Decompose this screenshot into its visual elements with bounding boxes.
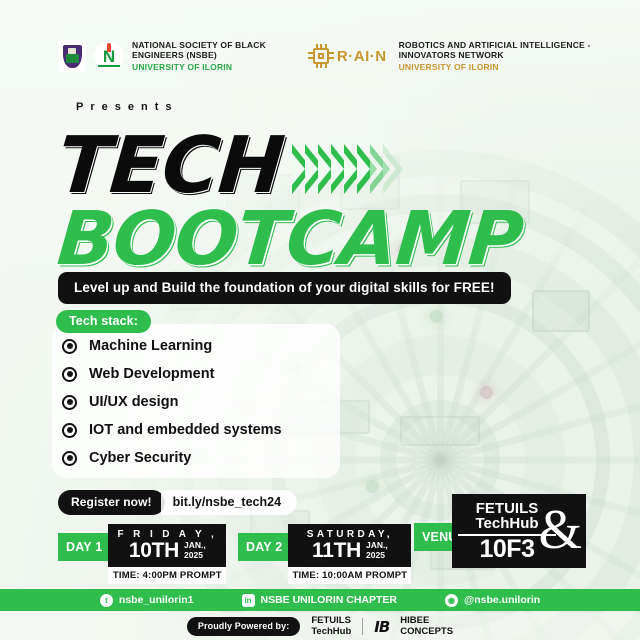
venues-box: FETUILS TechHub 10F3 & (452, 494, 586, 568)
rain-line3: UNIVERSITY OF ILORIN (399, 62, 591, 72)
social-handle: NSBE UNILORIN CHAPTER (261, 594, 398, 606)
tech-stack-item-label: UI/UX design (89, 394, 178, 410)
social-link-instagram[interactable]: ◉@nsbe.unilorin (445, 594, 540, 607)
chevron-arrows-icon (299, 144, 403, 194)
day-2-year: 2025 (366, 551, 388, 561)
organization-header: N NATIONAL SOCIETY OF BLACK ENGINEERS (N… (58, 40, 591, 72)
rain-text-block: ROBOTICS AND ARTIFICIAL INTELLIGENCE - I… (399, 40, 591, 72)
social-handle: nsbe_unilorin1 (119, 594, 194, 606)
rain-wordmark: R·AI·N (337, 48, 387, 65)
register-now-button[interactable]: Register now! (58, 490, 165, 515)
twitter-icon: t (100, 594, 113, 607)
nsbe-text-block: NATIONAL SOCIETY OF BLACK ENGINEERS (NSB… (132, 40, 266, 72)
decorative-spoke (439, 379, 640, 463)
tech-stack-item: Cyber Security (62, 450, 282, 466)
social-handle: @nsbe.unilorin (464, 594, 540, 606)
day-card-2: DAY 2 SATURDAY, 11TH JAN., 2025 TIME: 10… (238, 524, 411, 584)
sponsor1-line2: TechHub (311, 627, 351, 638)
title-bootcamp: BOOTCAMP (55, 202, 526, 276)
tech-stack-item-label: IOT and embedded systems (89, 422, 282, 438)
poster-canvas: N NATIONAL SOCIETY OF BLACK ENGINEERS (N… (0, 0, 640, 640)
day-2-time: TIME: 10:00AM PROMPT (288, 567, 411, 584)
linkedin-icon: in (242, 594, 255, 607)
bullet-radio-icon (62, 395, 77, 410)
hibee-logo-icon: IB (374, 618, 389, 636)
sponsor-hibee: HIBEE CONCEPTS (400, 616, 453, 638)
sponsor1-line1: FETUILS (311, 616, 351, 627)
powered-by-label: Proudly Powered by: (187, 617, 300, 636)
hero-title-row: TECH (58, 129, 403, 204)
bullet-radio-icon (62, 451, 77, 466)
nsbe-logo-group: N NATIONAL SOCIETY OF BLACK ENGINEERS (N… (58, 40, 266, 72)
sponsor-fetuils: FETUILS TechHub (311, 616, 351, 638)
unilorin-crest-icon (58, 40, 86, 72)
day-2-tag: DAY 2 (238, 533, 289, 561)
tech-stack-item: UI/UX design (62, 394, 282, 410)
nsbe-line1: NATIONAL SOCIETY OF BLACK (132, 40, 266, 50)
tech-stack-item-label: Cyber Security (89, 450, 191, 466)
tech-stack-badge: Tech stack: (56, 310, 151, 333)
tech-stack-item-label: Web Development (89, 366, 214, 382)
footer-divider (362, 618, 363, 635)
social-link-linkedin[interactable]: inNSBE UNILORIN CHAPTER (242, 594, 398, 607)
social-bar: tnsbe_unilorin1inNSBE UNILORIN CHAPTER◉@… (0, 589, 640, 611)
register-row[interactable]: Register now! bit.ly/nsbe_tech24 (58, 490, 297, 515)
tagline-banner: Level up and Build the foundation of you… (58, 272, 511, 304)
microchip-icon (308, 44, 334, 68)
sponsor2-line2: CONCEPTS (400, 627, 453, 638)
tech-stack-list: Machine LearningWeb DevelopmentUI/UX des… (62, 338, 282, 466)
day-1-tag: DAY 1 (58, 533, 109, 561)
bullet-radio-icon (62, 367, 77, 382)
sponsor2-line1: HIBEE (400, 616, 453, 627)
tech-stack-item-label: Machine Learning (89, 338, 212, 354)
ampersand-glyph: & (538, 502, 582, 558)
rain-wordmark-group: R·AI·N (308, 44, 387, 68)
nsbe-torch-icon: N (94, 41, 124, 71)
decorative-spoke (440, 457, 640, 464)
day-1-number: 10TH (129, 541, 179, 561)
tech-stack-item: IOT and embedded systems (62, 422, 282, 438)
title-tech: TECH (55, 129, 287, 204)
tech-stack-item: Web Development (62, 366, 282, 382)
chevron-8-icon (383, 144, 403, 194)
day-card-1: DAY 1 F R I D A Y , 10TH JAN., 2025 TIME… (58, 524, 226, 584)
day-1-time: TIME: 4:00PM PROMPT (108, 567, 226, 584)
social-link-twitter[interactable]: tnsbe_unilorin1 (100, 594, 194, 607)
instagram-icon: ◉ (445, 594, 458, 607)
day-2-number: 11TH (312, 541, 361, 561)
day-1-year: 2025 (184, 551, 206, 561)
rain-logo-group: R·AI·N ROBOTICS AND ARTIFICIAL INTELLIGE… (308, 40, 591, 72)
presents-label: Presents (76, 101, 178, 113)
tech-stack-item: Machine Learning (62, 338, 282, 354)
rain-line1: ROBOTICS AND ARTIFICIAL INTELLIGENCE - (399, 40, 591, 50)
bullet-radio-icon (62, 339, 77, 354)
nsbe-line2: ENGINEERS (NSBE) (132, 50, 266, 60)
bullet-radio-icon (62, 423, 77, 438)
decorative-spoke (438, 307, 640, 463)
register-link[interactable]: bit.ly/nsbe_tech24 (161, 490, 297, 515)
rain-line2: INNOVATORS NETWORK (399, 50, 591, 60)
footer-sponsors: Proudly Powered by: FETUILS TechHub IB H… (0, 613, 640, 640)
nsbe-line3: UNIVERSITY OF ILORIN (132, 62, 266, 72)
